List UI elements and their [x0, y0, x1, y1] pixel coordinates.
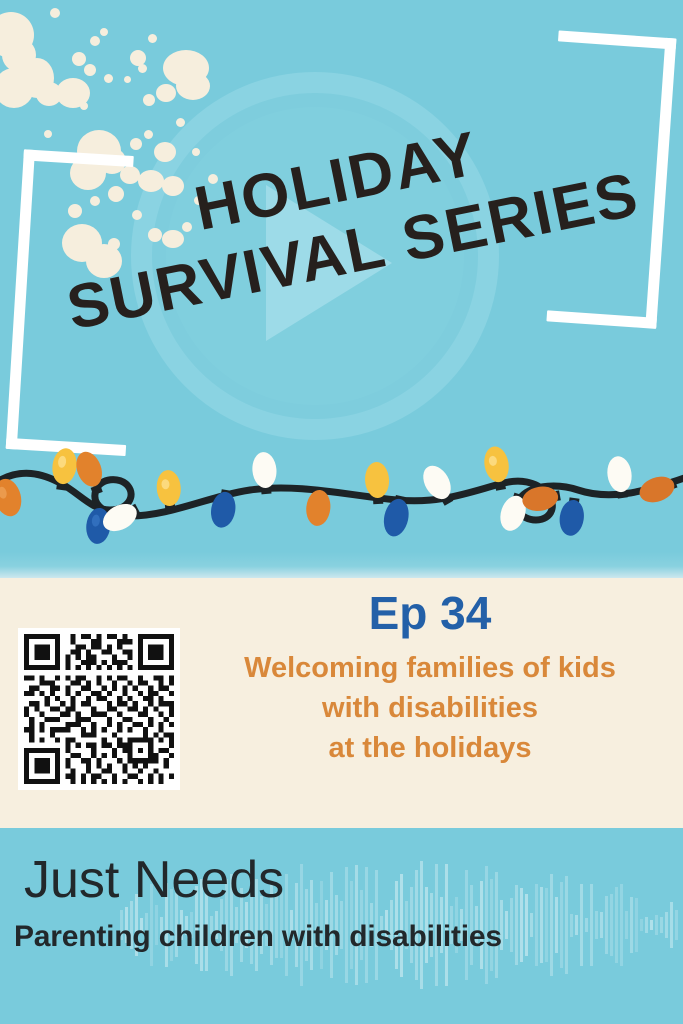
hero-section: HOLIDAY SURVIVAL SERIES: [0, 0, 683, 578]
podcast-name: Just Needs: [24, 850, 284, 910]
episode-title-line-1: Welcoming families of kids: [185, 648, 675, 688]
podcast-tagline: Parenting children with disabilities: [14, 920, 502, 954]
episode-number: Ep 34: [185, 586, 675, 640]
episode-title-line-3: at the holidays: [185, 728, 675, 768]
episode-info-section: Ep 34 Welcoming families of kids with di…: [0, 578, 683, 828]
branding-section: Just Needs Parenting children with disab…: [0, 828, 683, 1024]
podcast-episode-poster: HOLIDAY SURVIVAL SERIES: [0, 0, 683, 1024]
string-lights-decoration: [0, 440, 683, 575]
episode-title: Welcoming families of kids with disabili…: [185, 648, 675, 768]
qr-code[interactable]: [18, 628, 180, 790]
episode-text-block: Ep 34 Welcoming families of kids with di…: [185, 586, 675, 768]
episode-title-line-2: with disabilities: [185, 688, 675, 728]
